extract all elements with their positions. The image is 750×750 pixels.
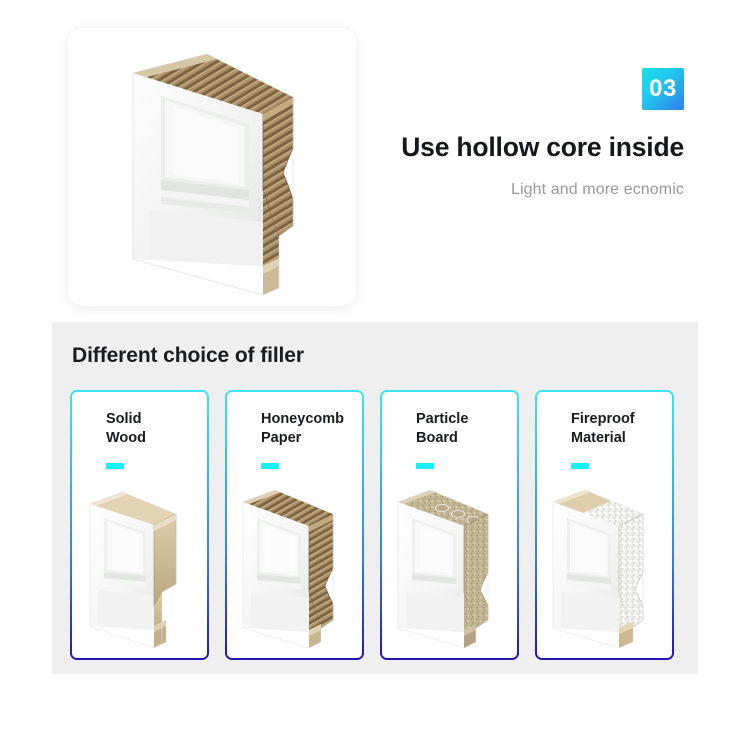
filler-card-fireproof-material[interactable]: Fireproof Material [535,390,674,660]
card-title-line2: Material [571,429,635,448]
page-root: 03 Use hollow core inside Light and more… [0,0,750,750]
card-title-particle-board: Particle Board [416,410,468,448]
card-title-honeycomb-paper: Honeycomb Paper [261,410,344,448]
hero-text-block: 03 Use hollow core inside Light and more… [354,68,684,201]
card-title-line2: Wood [106,429,146,448]
hero-title: Use hollow core inside [354,132,684,164]
filler-options-panel: Different choice of filler Solid Wood [52,322,698,674]
card-title-line2: Paper [261,429,344,448]
accent-dash-icon [416,463,434,469]
fireproof-material-core-illustration [541,480,669,652]
solid-wood-door-image [72,480,207,652]
hero-image-card [68,28,356,306]
honeycomb-paper-door-image [227,480,362,652]
accent-dash-icon [106,463,124,469]
honeycomb-paper-core-illustration [231,480,359,652]
filler-card-particle-board[interactable]: Particle Board [380,390,519,660]
card-inner: Fireproof Material [537,392,672,658]
card-title-line1: Fireproof [571,410,635,429]
card-title-line2: Board [416,429,468,448]
accent-dash-icon [571,463,589,469]
panel-title: Different choice of filler [72,344,304,368]
solid-wood-core-illustration [76,480,204,652]
fireproof-material-door-image [537,480,672,652]
card-title-solid-wood: Solid Wood [106,410,146,448]
filler-card-honeycomb-paper[interactable]: Honeycomb Paper [225,390,364,660]
filler-card-solid-wood[interactable]: Solid Wood [70,390,209,660]
card-inner: Honeycomb Paper [227,392,362,658]
card-title-line1: Honeycomb [261,410,344,429]
hollow-core-door-illustration [87,40,337,295]
step-number-badge: 03 [642,68,684,110]
hero-door-image [68,28,356,306]
card-inner: Particle Board [382,392,517,658]
card-title-fireproof-material: Fireproof Material [571,410,635,448]
accent-dash-icon [261,463,279,469]
filler-card-list: Solid Wood [70,390,680,660]
card-title-line1: Particle [416,410,468,429]
card-inner: Solid Wood [72,392,207,658]
hero-subtitle: Light and more ecnomic [354,180,684,201]
card-title-line1: Solid [106,410,146,429]
particle-board-door-image [382,480,517,652]
particle-board-core-illustration [386,480,514,652]
